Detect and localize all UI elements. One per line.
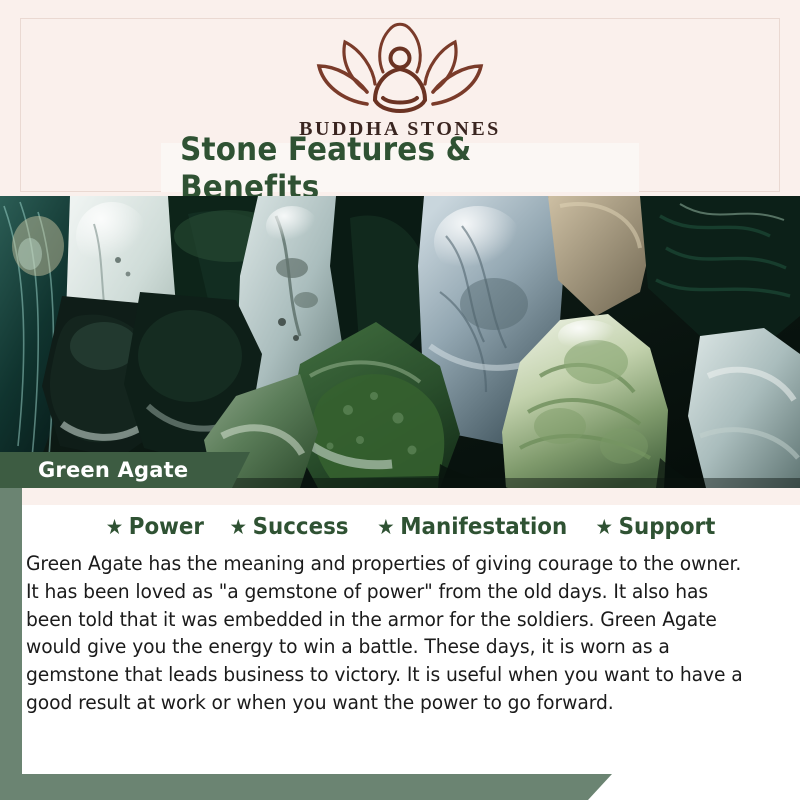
star-icon: ★ — [106, 517, 124, 538]
page-title: Stone Features & Benefits — [180, 130, 620, 206]
benefit-label: Manifestation — [400, 514, 567, 540]
gemstone-photo-art — [0, 196, 800, 488]
star-icon: ★ — [229, 517, 247, 538]
stone-name-tag: Green Agate — [0, 452, 250, 488]
stone-details-section: ★ Power ★ Success ★ Manifestation ★ Supp… — [22, 505, 800, 774]
benefit-label: Success — [252, 514, 348, 540]
lotus-meditation-icon — [305, 16, 495, 116]
cream-divider-strip — [22, 488, 800, 505]
benefit-item-power: ★ Power — [106, 514, 204, 540]
poster-header: BUDDHA STONES Stone Features & Benefits — [0, 0, 800, 196]
star-icon: ★ — [596, 517, 614, 538]
brand-logo: BUDDHA STONES — [0, 16, 800, 141]
benefit-item-success: ★ Success — [229, 514, 348, 540]
star-icon: ★ — [377, 517, 395, 538]
benefits-row: ★ Power ★ Success ★ Manifestation ★ Supp… — [22, 505, 800, 540]
decorative-band-bottom — [0, 774, 612, 800]
benefit-label: Support — [619, 514, 716, 540]
benefit-item-support: ★ Support — [596, 514, 716, 540]
stone-name-label: Green Agate — [38, 458, 188, 482]
stone-description: Green Agate has the meaning and properti… — [26, 550, 758, 717]
stone-info-poster: BUDDHA STONES Stone Features & Benefits — [0, 0, 800, 800]
benefit-label: Power — [129, 514, 204, 540]
title-banner: Stone Features & Benefits — [161, 143, 639, 192]
gemstone-photo — [0, 196, 800, 488]
benefit-item-manifestation: ★ Manifestation — [377, 514, 567, 540]
